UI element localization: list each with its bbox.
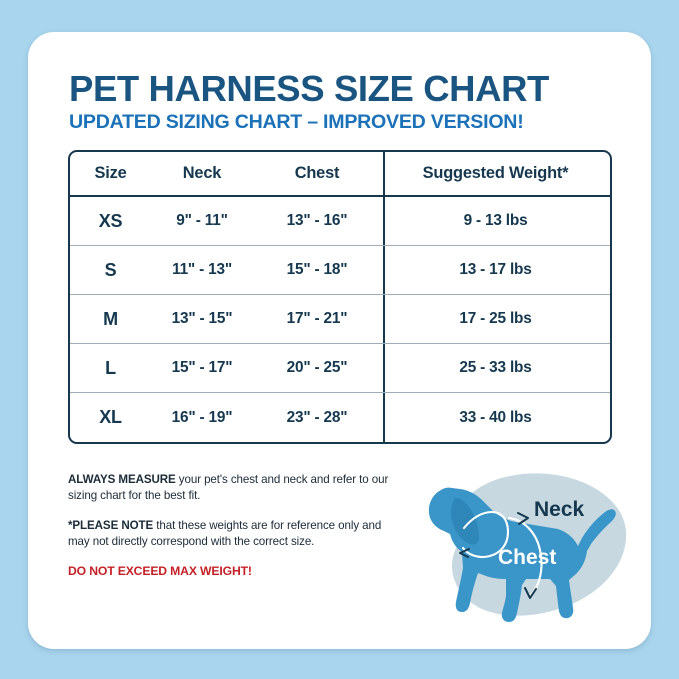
page-subtitle: UPDATED SIZING CHART – IMPROVED VERSION! <box>69 112 617 134</box>
cell-neck: 13" - 15" <box>172 310 233 327</box>
cell-neck: 9" - 11" <box>176 212 228 229</box>
cell-neck: 16" - 19" <box>172 409 233 426</box>
column-header-neck: Neck <box>183 164 221 182</box>
cell-size: XS <box>99 211 123 231</box>
cell-chest: 20" - 25" <box>287 359 348 376</box>
cell-size: L <box>105 358 116 378</box>
content-card: PET HARNESS SIZE CHART UPDATED SIZING CH… <box>28 32 651 649</box>
heading-block: PET HARNESS SIZE CHART UPDATED SIZING CH… <box>69 70 617 134</box>
cell-size: XL <box>99 407 122 427</box>
chest-label: Chest <box>498 546 556 569</box>
cell-neck: 15" - 17" <box>172 359 233 376</box>
max-weight-warning: DO NOT EXCEED MAX WEIGHT! <box>68 564 398 578</box>
page-title: PET HARNESS SIZE CHART <box>69 70 617 107</box>
table-row: XS 9" - 11" 13" - 16" 9 - 13 lbs <box>70 197 610 246</box>
column-header-suggested-weight: Suggested Weight* <box>423 164 569 182</box>
note-always-measure-bold: ALWAYS MEASURE <box>68 473 176 486</box>
footnotes-block: ALWAYS MEASURE your pet's chest and neck… <box>68 472 398 578</box>
table-row: XL 16" - 19" 23" - 28" 33 - 40 lbs <box>70 393 610 442</box>
cell-neck: 11" - 13" <box>172 261 232 278</box>
cell-weight: 9 - 13 lbs <box>464 212 528 229</box>
cell-size: M <box>103 309 118 329</box>
cell-chest: 23" - 28" <box>287 409 348 426</box>
table-row: L 15" - 17" 20" - 25" 25 - 33 lbs <box>70 344 610 393</box>
size-chart-page: PET HARNESS SIZE CHART UPDATED SIZING CH… <box>0 0 679 679</box>
table-row: S 11" - 13" 15" - 18" 13 - 17 lbs <box>70 246 610 295</box>
cell-chest: 15" - 18" <box>287 261 348 278</box>
column-header-size: Size <box>95 164 127 182</box>
cell-chest: 13" - 16" <box>287 212 348 229</box>
cell-weight: 17 - 25 lbs <box>459 310 531 327</box>
note-please-note-bold: *PLEASE NOTE <box>68 519 153 532</box>
cell-weight: 33 - 40 lbs <box>459 409 531 426</box>
cell-chest: 17" - 21" <box>287 310 348 327</box>
note-please-note: *PLEASE NOTE that these weights are for … <box>68 518 398 550</box>
dog-measurement-illustration: Neck Chest <box>406 456 636 636</box>
size-chart-table: Size Neck Chest Suggested Weight* XS 9" … <box>68 150 612 444</box>
cell-size: S <box>105 260 117 280</box>
cell-weight: 25 - 33 lbs <box>459 359 531 376</box>
note-always-measure: ALWAYS MEASURE your pet's chest and neck… <box>68 472 398 504</box>
cell-weight: 13 - 17 lbs <box>459 261 531 278</box>
column-header-chest: Chest <box>295 164 340 182</box>
neck-label: Neck <box>534 498 585 521</box>
table-header-row: Size Neck Chest Suggested Weight* <box>70 152 610 197</box>
table-row: M 13" - 15" 17" - 21" 17 - 25 lbs <box>70 295 610 344</box>
